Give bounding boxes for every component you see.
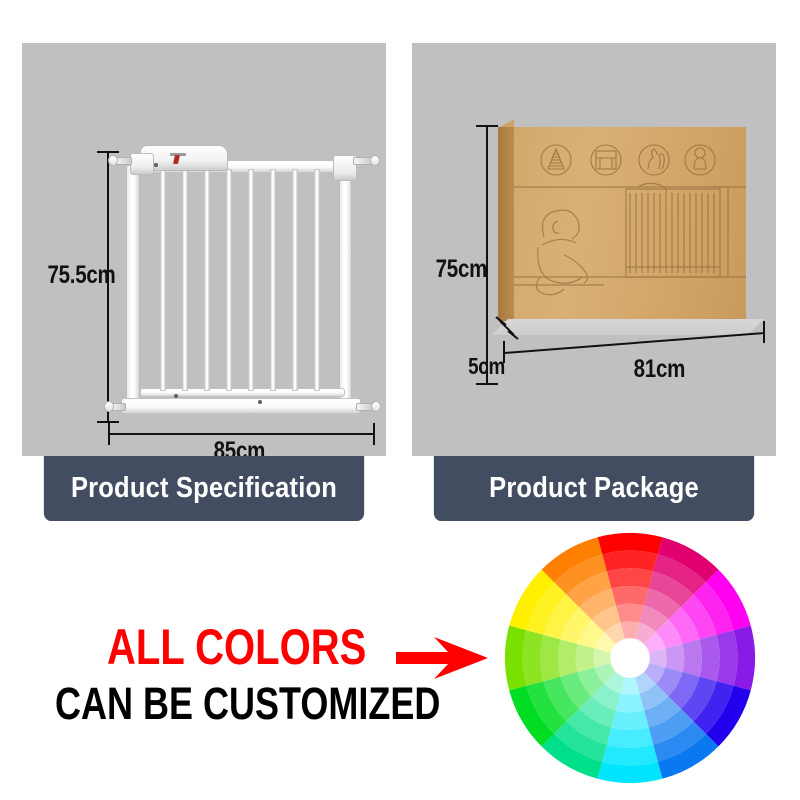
color-wheel-center — [610, 638, 650, 678]
color-wheel-segment-yellow-green-2 — [576, 644, 595, 672]
width-tick-right — [373, 423, 375, 445]
package-height-tick-top — [476, 125, 498, 127]
promo-line-1: ALL COLORS — [107, 618, 366, 676]
gate-bar — [292, 169, 298, 391]
gate-base-dot — [258, 400, 262, 404]
dimension-height-label: 75.5cm — [47, 261, 115, 290]
panel-product-specification: 75.5cm 85cm Product Specification — [22, 43, 386, 521]
right-arrow-icon — [396, 637, 488, 679]
package-height-tick-bottom — [476, 383, 498, 385]
gate-base-bar — [121, 398, 361, 414]
package-height-label: 75cm — [436, 255, 487, 284]
gate-bar — [270, 169, 276, 391]
product-detail-image: 75.5cm 85cm Product Specification — [0, 0, 800, 800]
width-tick-left — [108, 423, 110, 445]
color-wheel-segment-red-3 — [611, 586, 648, 606]
gate-left-hinge — [130, 153, 154, 175]
safety-gate-drawing: 75.5cm 85cm — [22, 43, 386, 456]
gate-left-post — [126, 165, 140, 405]
gate-knob-top-left — [108, 155, 118, 166]
color-wheel-segment-yellow-green-5 — [523, 630, 544, 686]
color-wheel-segment-cyan-4 — [607, 727, 653, 747]
color-wheel-segment-red-4 — [607, 568, 653, 588]
gate-bar — [248, 169, 254, 391]
caption-product-specification: Product Specification — [44, 456, 364, 521]
color-wheel-segment-cyan-5 — [602, 745, 658, 766]
dimension-width-label: 85cm — [214, 437, 265, 456]
gate-bar — [182, 169, 188, 391]
caption-product-package: Product Package — [434, 456, 754, 521]
color-wheel-segment-violet-4 — [699, 635, 719, 681]
color-wheel-segment-violet-3 — [682, 639, 702, 676]
gate-knob-bottom-right — [371, 401, 381, 412]
gate-lock-dot — [174, 394, 178, 398]
color-wheel-segment-red-5 — [602, 551, 658, 572]
color-wheel-segment-red-2 — [616, 604, 644, 623]
gate-bar — [204, 169, 210, 391]
gate-pivot-dot — [154, 163, 158, 167]
gate-knob-top-right — [370, 155, 380, 166]
gate-knob-bottom-left — [104, 401, 114, 412]
spec-illustration: 75.5cm 85cm — [22, 43, 386, 456]
color-wheel — [501, 529, 759, 787]
color-wheel-segment-violet-2 — [665, 644, 684, 672]
gate-bar — [314, 169, 320, 391]
color-wheel-segment-yellow-green-3 — [558, 639, 578, 676]
gate-bar — [160, 169, 166, 391]
promo-line-2: CAN BE CUSTOMIZED — [55, 678, 440, 730]
gate-bar — [226, 169, 232, 391]
color-wheel-segment-cyan-2 — [616, 693, 644, 712]
height-tick-top — [97, 151, 119, 153]
package-illustration: 75cm 5cm 81cm — [412, 43, 776, 456]
package-depth-label: 5cm — [468, 353, 505, 380]
carton-printed-artwork — [514, 127, 746, 321]
color-wheel-segment-cyan-3 — [611, 710, 648, 730]
carton-box-drawing: 75cm 5cm 81cm — [412, 43, 776, 456]
carton-side-face — [498, 127, 514, 321]
package-width-label: 81cm — [634, 355, 685, 384]
panel-product-package: 75cm 5cm 81cm Product Package — [412, 43, 776, 521]
baby-icon — [685, 145, 715, 175]
width-rule — [108, 433, 375, 435]
color-wheel-segment-violet-5 — [717, 630, 738, 686]
gate-right-post — [339, 171, 352, 405]
color-wheel-segment-yellow-green-4 — [540, 635, 560, 681]
